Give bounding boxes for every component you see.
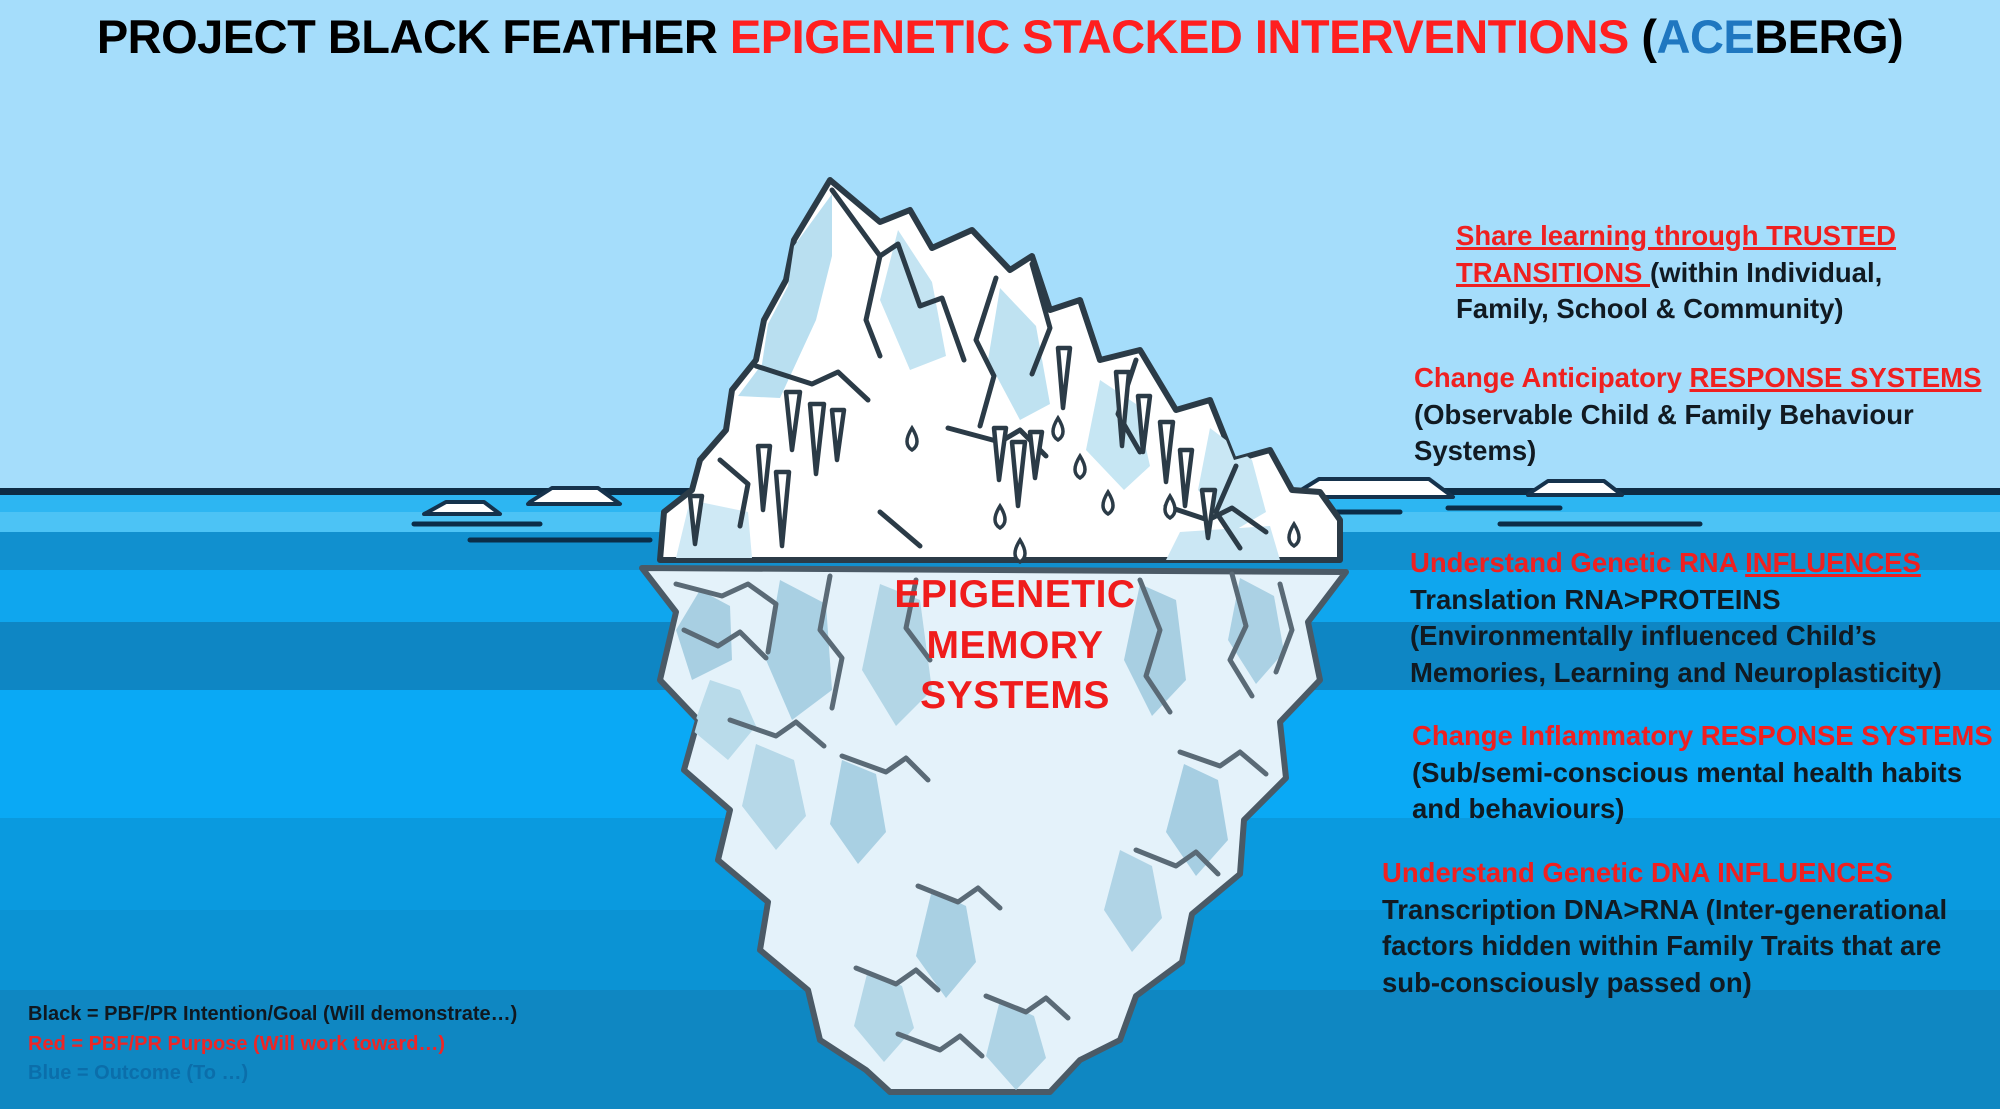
page-title: PROJECT BLACK FEATHER EPIGENETIC STACKED…: [0, 12, 2000, 61]
legend-black-line: Black = PBF/PR Intention/Goal (Will demo…: [28, 1000, 517, 1030]
callout-2-body: (Observable Child & Family Behaviour Sys…: [1414, 399, 1914, 467]
ice-floe-small: [1528, 481, 1622, 495]
title-epigenetic-stacked-interventions: EPIGENETIC STACKED INTERVENTIONS: [730, 10, 1641, 63]
callout-3-body-line-2: (Environmentally influenced Child’s Memo…: [1410, 620, 1942, 688]
color-key-legend: Black = PBF/PR Intention/Goal (Will demo…: [28, 1000, 517, 1089]
iceberg-above-water: [660, 180, 1340, 562]
label-line-3: SYSTEMS: [830, 671, 1200, 722]
callout-3-heading-plain: Understand Genetic RNA: [1410, 547, 1745, 578]
callout-inflammatory-response-systems: Change Inflammatory RESPONSE SYSTEMS (Su…: [1412, 718, 2000, 828]
callout-2-heading-plain: Change Anticipatory: [1414, 362, 1690, 393]
callout-5-heading: Understand Genetic DNA INFLUENCES: [1382, 857, 1893, 888]
title-paren-close: ): [1888, 10, 1903, 63]
title-berg: BERG: [1754, 10, 1888, 63]
callout-3-body-line-1: Translation RNA>PROTEINS: [1410, 584, 1781, 615]
callout-trusted-transitions: Share learning through TRUSTED TRANSITIO…: [1456, 218, 1976, 328]
label-line-2: MEMORY: [830, 621, 1200, 672]
title-ace: ACE: [1657, 10, 1755, 63]
callout-3-heading-underlined: INFLUENCES: [1745, 547, 1921, 578]
callout-4-body: (Sub/semi-conscious mental health habits…: [1412, 757, 1962, 825]
callout-anticipatory-response-systems: Change Anticipatory RESPONSE SYSTEMS (Ob…: [1414, 360, 1994, 470]
ice-floe-small: [424, 502, 500, 514]
legend-red-line: Red = PBF/PR Purpose (Will work toward…): [28, 1030, 517, 1060]
title-project-black-feather: PROJECT BLACK FEATHER: [97, 10, 730, 63]
callout-genetic-rna-influences: Understand Genetic RNA INFLUENCES Transl…: [1410, 545, 2000, 691]
callout-genetic-dna-influences: Understand Genetic DNA INFLUENCES Transc…: [1382, 855, 1992, 1001]
infographic-canvas: EPIGENETIC MEMORY SYSTEMS PROJECT BLACK …: [0, 0, 2000, 1109]
callout-2-heading-underlined: RESPONSE SYSTEMS: [1690, 362, 1982, 393]
title-paren-open: (: [1641, 10, 1656, 63]
callout-5-body: Transcription DNA>RNA (Inter-generationa…: [1382, 894, 1947, 998]
iceberg-center-label: EPIGENETIC MEMORY SYSTEMS: [830, 570, 1200, 722]
callout-4-heading: Change Inflammatory RESPONSE SYSTEMS: [1412, 720, 1993, 751]
label-line-1: EPIGENETIC: [830, 570, 1200, 621]
legend-blue-line: Blue = Outcome (To …): [28, 1059, 517, 1089]
